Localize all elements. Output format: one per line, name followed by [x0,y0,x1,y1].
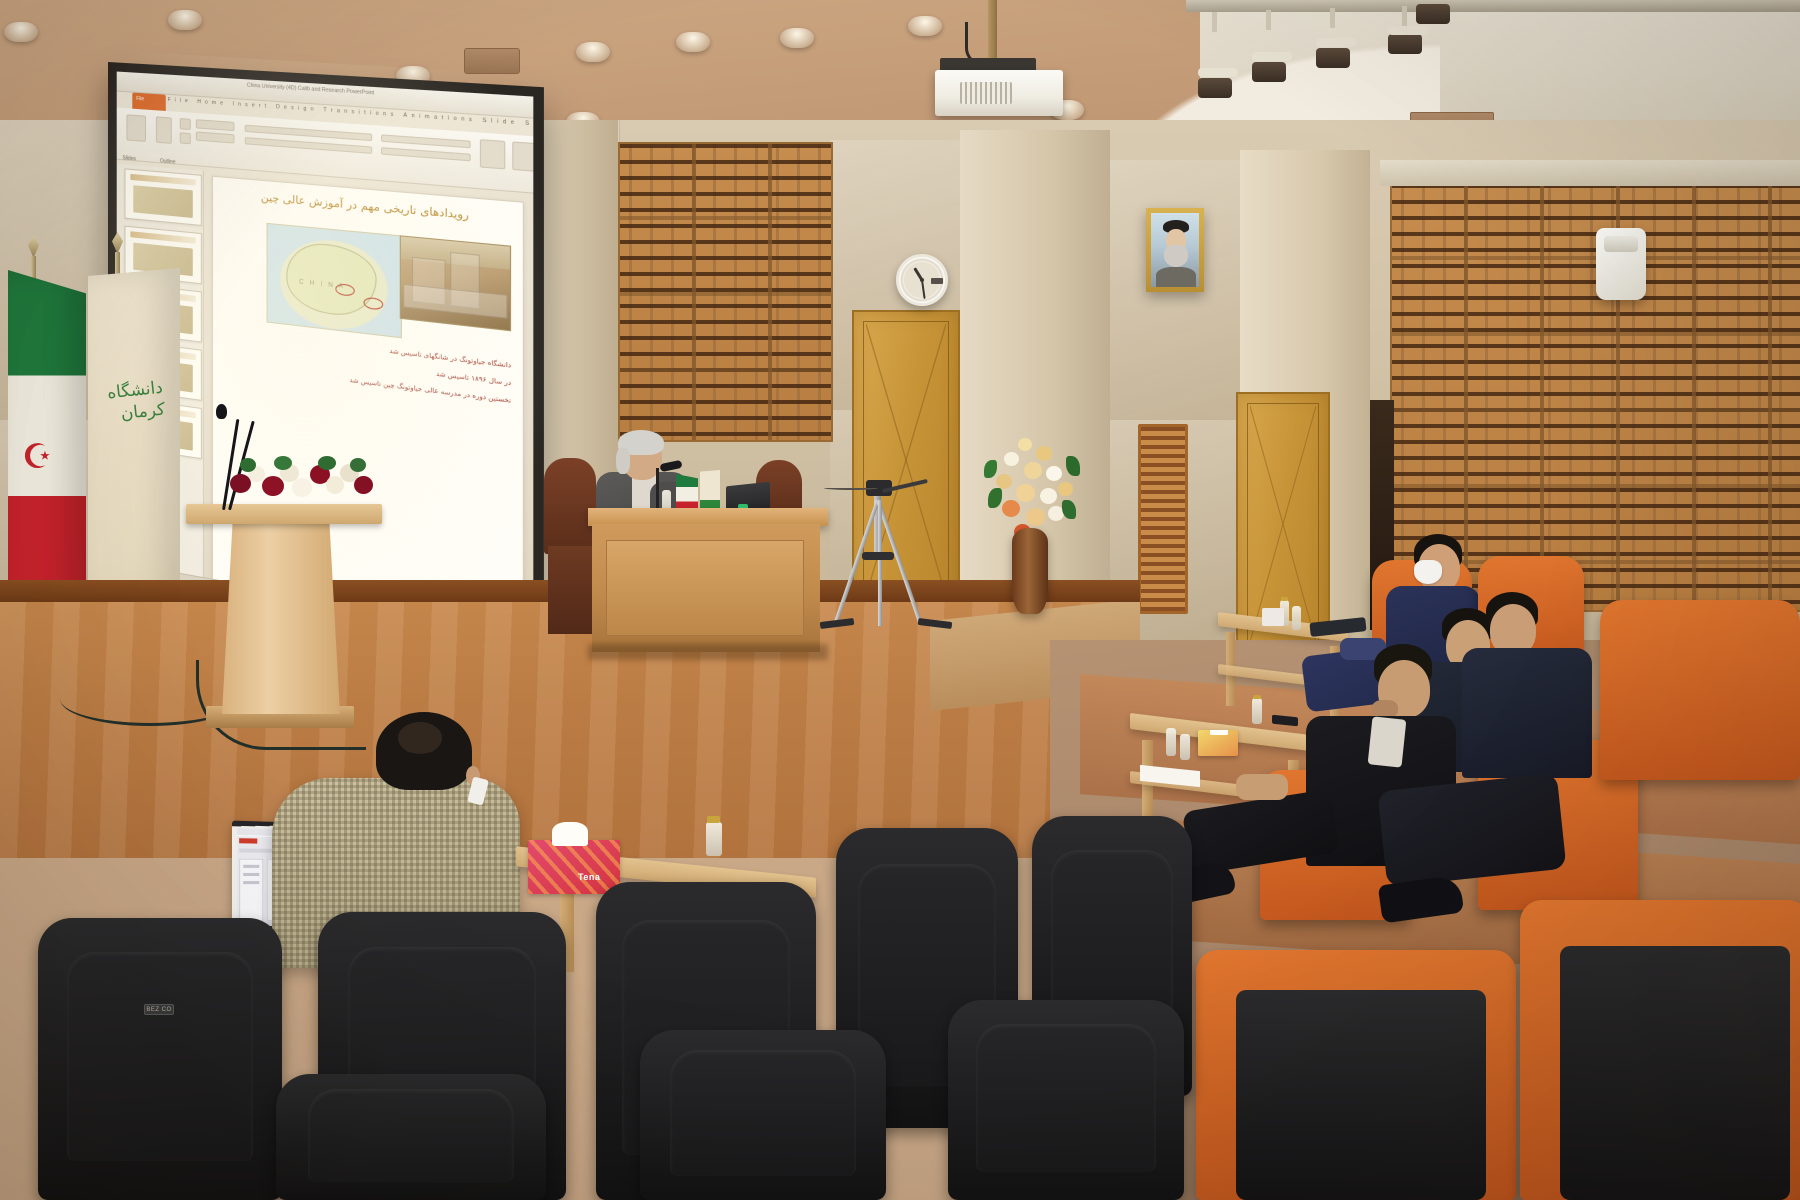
flower-vase [1012,528,1048,614]
person-hand [1236,774,1288,800]
tissue-box[interactable] [1198,730,1238,756]
spotlight-icon [1416,4,1450,24]
water-bottle[interactable] [1252,698,1262,724]
tissue-box-small[interactable] [1262,608,1284,626]
door-stage-right[interactable] [852,310,960,610]
spotlight-icon [1252,62,1286,82]
podium-flower-arrangement [228,456,376,504]
face-mask [1414,560,1442,584]
slide-title: رویدادهای تاریخی مهم در آموزش عالی چین [219,188,516,227]
spotlight-ring [1388,26,1428,35]
empty-seat[interactable] [276,1074,546,1200]
downlight-icon [780,28,814,48]
panel-tab-slides[interactable]: Slides [123,155,136,162]
projector-vent-grille [960,82,1012,104]
bottle-cap [1253,695,1261,699]
clock-minute-hand [921,280,926,299]
spotlight-arm [1212,12,1217,32]
seat-brand-badge: BEZ CO [144,1004,174,1015]
water-bottle[interactable] [706,822,722,856]
table-microphone-stand [656,468,659,508]
spotlight-ring [1252,52,1292,61]
spotlight-arm [1402,6,1407,26]
podium-body [222,522,340,714]
tissue-sheet [552,822,588,846]
head-table-panel [606,540,804,636]
acoustic-slat-panel [618,142,833,442]
spotlight-icon [1198,78,1232,98]
ribbon-file-label: File [136,96,144,103]
attendee-bald-patch [398,722,442,754]
tripod-spreader [862,552,894,560]
slide-bullet: در سال ۱۸۹۶ تاسیس شد [436,370,511,387]
tissue-brand-label: Tena [578,872,600,882]
person-legs [1377,773,1566,887]
panel-tab-outline[interactable]: Outline [160,158,176,165]
empty-seat[interactable]: BEZ CO [38,918,282,1200]
water-bottle[interactable] [1180,734,1190,760]
downlight-icon [168,10,202,30]
lighting-track [1186,0,1800,12]
seat-back-panel [1560,946,1790,1200]
framed-portrait [1146,208,1204,292]
desk-flag-university [700,470,720,512]
presenter-hair-side [616,448,630,474]
campus-building-photo [400,235,511,331]
downlight-icon [4,22,38,42]
downlight-icon [676,32,710,52]
water-bottle[interactable] [1292,606,1301,630]
spotlight-icon [1316,48,1350,68]
bottle-cap [1281,597,1288,601]
spotlight-arm [1330,8,1335,28]
spotlight-icon [1388,34,1422,54]
water-bottle[interactable] [1166,728,1176,756]
university-flag-text: دانشگاه کرمان [92,377,174,504]
ceiling-vent [464,48,520,74]
podium-top [186,504,382,524]
downlight-icon [908,16,942,36]
tripod-cable [824,486,878,490]
china-map-image: C H I N A [267,223,402,339]
seat-back-panel [1236,990,1486,1200]
downlight-icon [576,42,610,62]
slide-thumbnail[interactable] [124,168,201,226]
bottle-cap [707,816,720,823]
wooden-chair-legs [548,546,592,634]
slatwall-header-trim [1380,160,1800,186]
auditorium-photo: Iranian cleric 10:58 China University (4… [0,0,1800,1200]
louver-vent [1138,424,1188,614]
speaker-tweeter [1604,236,1638,252]
spotlight-ring [1316,38,1356,47]
iran-flag-emblem-icon: ☪ [22,440,56,480]
clock-date-window [931,278,943,284]
empty-seat[interactable] [948,1000,1184,1200]
wooden-chair[interactable] [544,458,596,554]
person-torso [1462,648,1592,778]
person-shirt-collar [1368,716,1407,767]
tripod-leg [878,500,882,626]
audience-seat[interactable] [1600,600,1800,780]
spotlight-arm [1266,10,1271,30]
spotlight-ring [1198,68,1238,77]
head-table-shadow [588,644,828,660]
slide-bullet: دانشگاه جیاوتونگ در شانگهای تاسیس شد [389,348,511,370]
wall-clock [896,254,948,306]
empty-seat[interactable] [640,1030,886,1200]
microphone-head-icon [216,404,227,419]
